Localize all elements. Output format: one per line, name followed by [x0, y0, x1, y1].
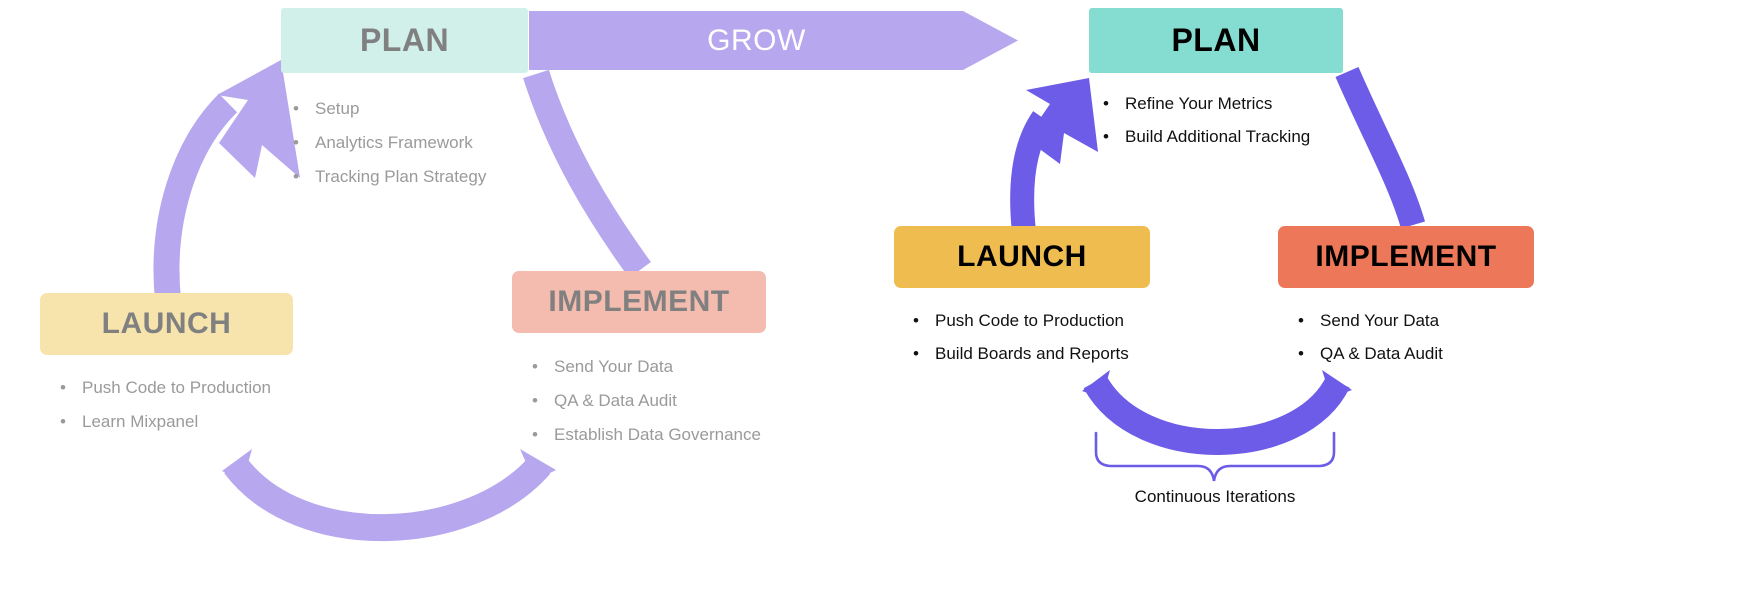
- bullet-icon: •: [1298, 304, 1320, 337]
- list-item: • Tracking Plan Strategy: [293, 160, 581, 194]
- left-implement-bullets: • Send Your Data • QA & Data Audit • Est…: [532, 350, 842, 452]
- list-item: • QA & Data Audit: [532, 384, 842, 418]
- bullet-icon: •: [1298, 337, 1320, 370]
- right-plan-header[interactable]: PLAN: [1089, 8, 1343, 73]
- list-item: • Learn Mixpanel: [60, 405, 370, 439]
- list-item: • Establish Data Governance: [532, 418, 842, 452]
- list-item: • Setup: [293, 92, 581, 126]
- left-plan-bullets: • Setup • Analytics Framework • Tracking…: [293, 92, 581, 194]
- list-item: • Build Additional Tracking: [1103, 120, 1409, 153]
- right-bottom-arc-tip-a: [1322, 370, 1352, 398]
- list-item-label: Establish Data Governance: [554, 418, 761, 452]
- grow-banner-label: GROW: [529, 11, 984, 70]
- curly-brace-icon: [1096, 433, 1334, 481]
- left-bottom-arc-tip-b: [222, 449, 252, 481]
- list-item: • Push Code to Production: [60, 371, 370, 405]
- bullet-icon: •: [60, 371, 82, 405]
- right-implement-to-launch-arc: [1095, 382, 1338, 442]
- diagram-canvas: GROW PLAN • Setup • Analytics Framework …: [0, 0, 1740, 589]
- left-implement-header[interactable]: IMPLEMENT: [512, 271, 766, 333]
- list-item: • Analytics Framework: [293, 126, 581, 160]
- left-launch-header[interactable]: LAUNCH: [40, 293, 293, 355]
- left-launch-to-plan-shaft: [167, 103, 228, 300]
- list-item-label: Analytics Framework: [315, 126, 473, 160]
- left-plan-phase[interactable]: PLAN • Setup • Analytics Framework • Tra…: [281, 8, 581, 194]
- grow-text: GROW: [707, 24, 806, 58]
- left-plan-title: PLAN: [360, 22, 449, 59]
- bullet-icon: •: [60, 405, 82, 439]
- right-implement-bullets: • Send Your Data • QA & Data Audit: [1298, 304, 1608, 370]
- list-item-label: Refine Your Metrics: [1125, 87, 1272, 120]
- list-item-label: Push Code to Production: [82, 371, 271, 405]
- right-launch-header[interactable]: LAUNCH: [894, 226, 1150, 288]
- list-item-label: Send Your Data: [1320, 304, 1439, 337]
- left-implement-phase[interactable]: IMPLEMENT • Send Your Data • QA & Data A…: [512, 271, 842, 452]
- right-implement-phase[interactable]: IMPLEMENT • Send Your Data • QA & Data A…: [1278, 226, 1608, 370]
- right-launch-bullets: • Push Code to Production • Build Boards…: [913, 304, 1224, 370]
- right-bottom-arc-tip-b: [1082, 370, 1110, 398]
- list-item: • Build Boards and Reports: [913, 337, 1224, 370]
- left-launch-bullets: • Push Code to Production • Learn Mixpan…: [60, 371, 370, 439]
- right-implement-title: IMPLEMENT: [1315, 240, 1496, 274]
- continuous-iterations-label: Continuous Iterations: [1055, 487, 1375, 507]
- bullet-icon: •: [1103, 87, 1125, 120]
- right-launch-title: LAUNCH: [957, 240, 1087, 274]
- left-bottom-arc-tip-a: [520, 449, 556, 481]
- bullet-icon: •: [913, 337, 935, 370]
- right-plan-bullets: • Refine Your Metrics • Build Additional…: [1103, 87, 1409, 153]
- bullet-icon: •: [293, 92, 315, 126]
- right-launch-to-plan-arrowhead: [1026, 78, 1098, 164]
- list-item-label: Push Code to Production: [935, 304, 1124, 337]
- bullet-icon: •: [532, 418, 554, 452]
- bullet-icon: •: [532, 350, 554, 384]
- list-item-label: QA & Data Audit: [554, 384, 677, 418]
- list-item-label: Learn Mixpanel: [82, 405, 198, 439]
- list-item-label: Send Your Data: [554, 350, 673, 384]
- left-plan-header[interactable]: PLAN: [281, 8, 528, 73]
- left-launch-phase[interactable]: LAUNCH • Push Code to Production • Learn…: [40, 293, 370, 439]
- bullet-icon: •: [1103, 120, 1125, 153]
- right-plan-title: PLAN: [1171, 22, 1260, 59]
- list-item: • Send Your Data: [532, 350, 842, 384]
- bullet-icon: •: [532, 384, 554, 418]
- continuous-iterations-text: Continuous Iterations: [1135, 487, 1296, 506]
- bullet-icon: •: [293, 126, 315, 160]
- list-item: • QA & Data Audit: [1298, 337, 1608, 370]
- right-plan-phase[interactable]: PLAN • Refine Your Metrics • Build Addit…: [1089, 8, 1409, 153]
- list-item-label: Build Boards and Reports: [935, 337, 1129, 370]
- list-item-label: Build Additional Tracking: [1125, 120, 1310, 153]
- list-item: • Send Your Data: [1298, 304, 1608, 337]
- right-launch-to-plan-shaft: [1022, 118, 1043, 232]
- list-item: • Refine Your Metrics: [1103, 87, 1409, 120]
- list-item-label: Setup: [315, 92, 359, 126]
- list-item-label: QA & Data Audit: [1320, 337, 1443, 370]
- left-implement-title: IMPLEMENT: [548, 285, 729, 319]
- list-item: • Push Code to Production: [913, 304, 1224, 337]
- left-implement-to-launch-arc: [235, 465, 540, 528]
- left-launch-title: LAUNCH: [102, 307, 232, 341]
- right-launch-phase[interactable]: LAUNCH • Push Code to Production • Build…: [894, 226, 1224, 370]
- bullet-icon: •: [913, 304, 935, 337]
- bullet-icon: •: [293, 160, 315, 194]
- list-item-label: Tracking Plan Strategy: [315, 160, 486, 194]
- right-implement-header[interactable]: IMPLEMENT: [1278, 226, 1534, 288]
